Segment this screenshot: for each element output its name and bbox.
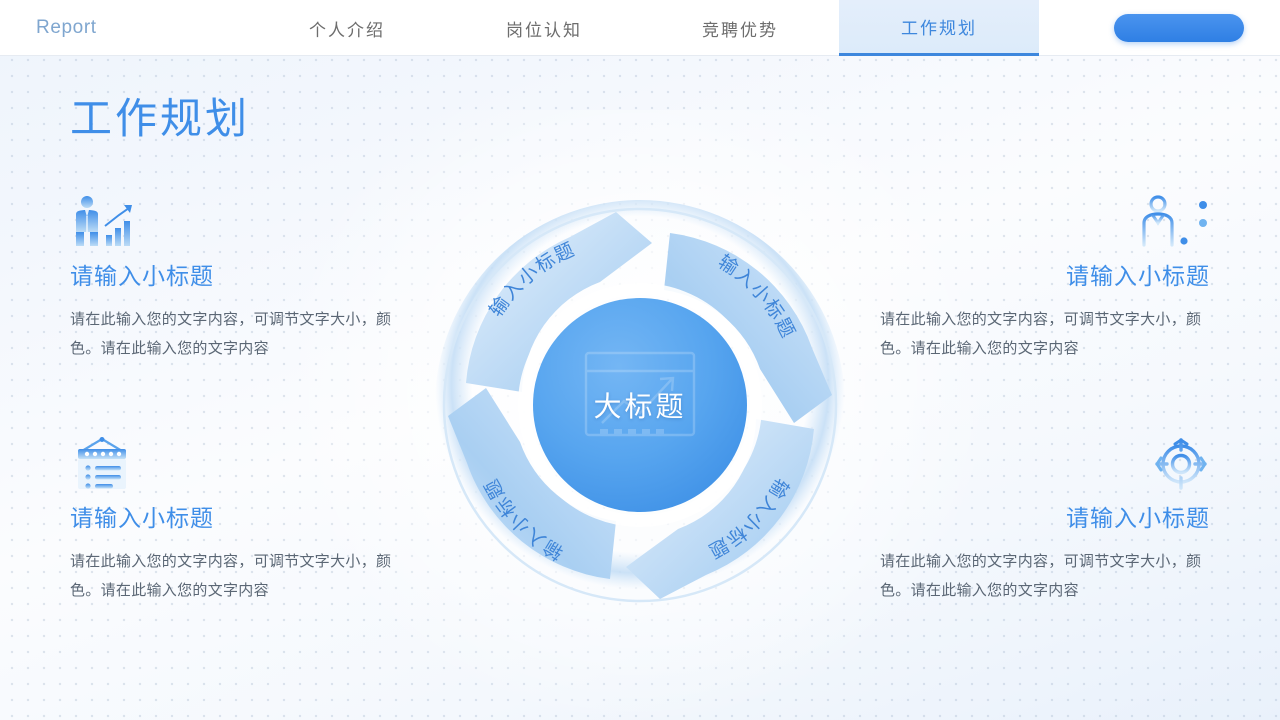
block-title: 请输入小标题 [880, 499, 1210, 533]
block-body: 请在此输入您的文字内容，可调节文字大小，颜色。请在此输入您的文字内容 [70, 547, 400, 605]
content-block-bottom-right: 请输入小标题 请在此输入您的文字内容，可调节文字大小，颜色。请在此输入您的文字内… [880, 437, 1210, 605]
tab-work-plan[interactable]: 工作规划 [839, 0, 1039, 56]
center-circle[interactable] [533, 298, 747, 512]
block-body: 请在此输入您的文字内容，可调节文字大小，颜色。请在此输入您的文字内容 [880, 547, 1210, 605]
block-body: 请在此输入您的文字内容，可调节文字大小，颜色。请在此输入您的文字内容 [880, 305, 1210, 363]
nav-action-button[interactable] [1114, 14, 1244, 42]
target-crosshair-icon [1152, 437, 1210, 491]
top-navigation-bar: Report 个人介绍 岗位认知 竞聘优势 工作规划 [0, 0, 1280, 56]
tab-job-understanding[interactable]: 岗位认知 [469, 0, 619, 56]
content-block-top-left: 请输入小标题 请在此输入您的文字内容，可调节文字大小，颜色。请在此输入您的文字内… [70, 195, 400, 363]
slide-canvas: Report 个人介绍 岗位认知 竞聘优势 工作规划 工作规划 [0, 0, 1280, 720]
tab-personal-intro[interactable]: 个人介绍 [272, 0, 422, 56]
checklist-board-icon [70, 437, 400, 491]
brand-logo[interactable]: Report [36, 0, 97, 56]
content-block-bottom-left: 请输入小标题 请在此输入您的文字内容，可调节文字大小，颜色。请在此输入您的文字内… [70, 437, 400, 605]
block-title: 请输入小标题 [70, 257, 400, 291]
person-orgchart-icon [1138, 195, 1210, 249]
block-title: 请输入小标题 [70, 499, 400, 533]
content-block-top-right: 请输入小标题 请在此输入您的文字内容，可调节文字大小，颜色。请在此输入您的文字内… [880, 195, 1210, 363]
tab-competitive-advantage[interactable]: 竞聘优势 [665, 0, 815, 56]
circular-process-diagram: 输入小标题 输入小标题 输入小标题 输入小标题 [420, 185, 860, 625]
block-body: 请在此输入您的文字内容，可调节文字大小，颜色。请在此输入您的文字内容 [70, 305, 400, 363]
businessman-growth-chart-icon [70, 195, 400, 249]
page-title: 工作规划 [70, 85, 250, 146]
block-title: 请输入小标题 [880, 257, 1210, 291]
